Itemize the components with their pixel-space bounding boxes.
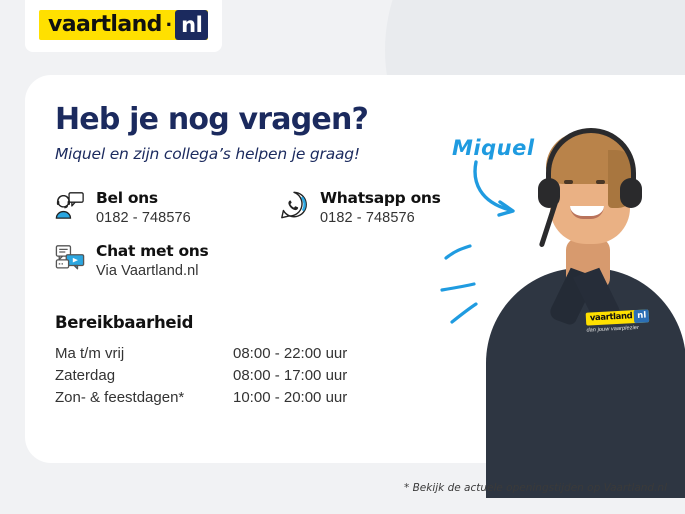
logo-dot-separator: ·: [166, 10, 175, 40]
hours-day-weekdays: Ma t/m vrij: [55, 342, 233, 364]
hours-time-sunday-holidays: 10:00 - 20:00 uur: [233, 386, 347, 408]
contact-chat-detail[interactable]: Via Vaartland.nl: [96, 263, 208, 279]
logo-lockup: vaartland · nl: [39, 10, 208, 40]
opening-hours-table: Ma t/m vrij 08:00 - 22:00 uur Zaterdag 0…: [55, 342, 347, 408]
page-title: Heb je nog vragen?: [55, 103, 455, 136]
hours-time-weekdays: 08:00 - 22:00 uur: [233, 342, 347, 364]
contact-methods-list: Bel ons 0182 - 748576 Whatsapp on: [55, 189, 465, 279]
logo-tld-badge: nl: [175, 10, 208, 40]
contact-whatsapp-text: Whatsapp ons 0182 - 748576: [320, 189, 441, 226]
curved-arrow-icon: [470, 158, 540, 228]
brand-logo[interactable]: vaartland · nl: [25, 0, 222, 52]
agent-eye-right: [596, 180, 605, 184]
chat-bubbles-icon: [55, 242, 85, 276]
contact-call-title: Bel ons: [96, 189, 158, 207]
contact-chat-text: Chat met ons Via Vaartland.nl: [96, 242, 208, 279]
headset-band-icon: [546, 128, 636, 180]
table-row: Zaterdag 08:00 - 17:00 uur: [55, 364, 347, 386]
shirt-logo-wordmark: vaartland: [586, 310, 635, 326]
contact-item-chat[interactable]: Chat met ons Via Vaartland.nl: [55, 242, 465, 279]
hours-day-saturday: Zaterdag: [55, 364, 233, 386]
shirt-logo-tld-badge: nl: [634, 309, 650, 323]
table-row: Ma t/m vrij 08:00 - 22:00 uur: [55, 342, 347, 364]
contact-call-number[interactable]: 0182 - 748576: [96, 210, 191, 226]
whatsapp-icon: [279, 189, 309, 223]
contact-whatsapp-number[interactable]: 0182 - 748576: [320, 210, 441, 226]
shirt-logo-patch: vaartland nl dan jouw vaarplezier: [585, 304, 650, 333]
motion-dashes-icon: [440, 240, 510, 330]
headset-person-icon: [55, 189, 85, 223]
logo-wordmark: vaartland: [39, 10, 166, 40]
shirt-logo-lockup: vaartland nl: [586, 309, 650, 325]
agent-eye-left: [564, 180, 573, 184]
hours-day-sunday-holidays: Zon- & feestdagen*: [55, 386, 233, 408]
page-subtitle: Miquel en zijn collega’s helpen je graag…: [55, 145, 455, 163]
hours-time-saturday: 08:00 - 17:00 uur: [233, 364, 347, 386]
contact-item-whatsapp[interactable]: Whatsapp ons 0182 - 748576: [279, 189, 459, 226]
availability-heading: Bereikbaarheid: [55, 313, 455, 332]
headset-earcup-right-icon: [620, 178, 642, 208]
contact-call-text: Bel ons 0182 - 748576: [96, 189, 191, 226]
table-row: Zon- & feestdagen* 10:00 - 20:00 uur: [55, 386, 347, 408]
card-content: Heb je nog vragen? Miquel en zijn colleg…: [55, 103, 455, 408]
footnote-text: * Bekijk de actuele openingstijden op Va…: [404, 482, 667, 494]
contact-chat-title: Chat met ons: [96, 242, 208, 260]
contact-banner: vaartland · nl Heb je nog vragen? Miquel…: [0, 0, 685, 514]
contact-whatsapp-title: Whatsapp ons: [320, 189, 441, 207]
agent-name-label: Miquel: [452, 136, 535, 160]
contact-item-call[interactable]: Bel ons 0182 - 748576: [55, 189, 235, 226]
